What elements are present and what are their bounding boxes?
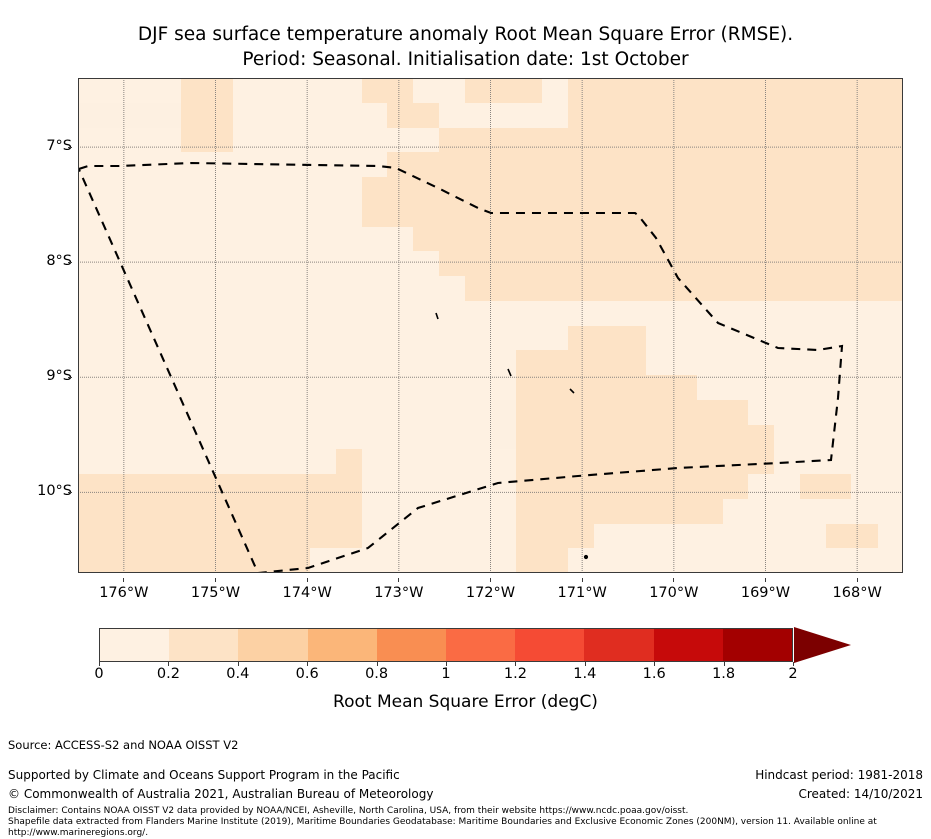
heatmap-cell [336, 449, 362, 549]
disclaimer-line-2: Shapefile data extracted from Flanders M… [8, 817, 923, 828]
colorbar[interactable] [99, 628, 793, 662]
heatmap-cell [362, 449, 517, 474]
longitude-tick-label: 174°W [262, 585, 352, 601]
heatmap-cell [697, 375, 903, 400]
colorbar-band [238, 629, 307, 661]
colorbar-tick-label: 0.2 [138, 666, 198, 682]
longitude-tick-mark [673, 578, 674, 582]
heatmap-cell [78, 128, 182, 153]
longitude-tick-mark [215, 578, 216, 582]
heatmap-cell [362, 524, 517, 549]
heatmap-cell [516, 350, 646, 375]
heatmap-cell [516, 425, 774, 450]
longitude-tick-mark [307, 578, 308, 582]
colorbar-band [377, 629, 446, 661]
longitude-tick-label: 170°W [629, 585, 719, 601]
heatmap-cell [465, 227, 903, 252]
heatmap-cell [78, 78, 182, 103]
footer-copyright: © Commonwealth of Australia 2021, Austra… [8, 785, 433, 804]
latitude-tick-label: 8°S [10, 253, 72, 269]
heatmap-cell [78, 326, 903, 351]
heatmap-cell [362, 103, 388, 128]
heatmap-cell [851, 474, 903, 499]
heatmap-cell [516, 474, 749, 499]
heatmap-cell [774, 425, 903, 450]
longitude-tick-mark [123, 578, 124, 582]
heatmap-cell [723, 276, 903, 301]
title-line-1: DJF sea surface temperature anomaly Root… [0, 22, 931, 47]
latitude-tick-mark [68, 147, 72, 148]
colorbar-tick-label: 1.2 [485, 666, 545, 682]
footer-disclaimer: Disclaimer: Contains NOAA OISST V2 data … [8, 806, 923, 839]
heatmap-cell [362, 202, 903, 227]
colorbar-band [723, 629, 792, 661]
rmse-heatmap-cells [78, 78, 903, 573]
heatmap-cell [233, 78, 363, 103]
heatmap-cell [284, 548, 310, 573]
colorbar-band [446, 629, 515, 661]
heatmap-cell [78, 152, 388, 177]
colorbar-band [584, 629, 653, 661]
heatmap-cell [516, 499, 723, 524]
heatmap-cell [78, 548, 285, 573]
heatmap-cell [413, 152, 903, 177]
heatmap-cell [78, 375, 491, 450]
heatmap-cell [233, 128, 440, 153]
latitude-tick-label: 7°S [10, 138, 72, 154]
heatmap-cell [568, 326, 646, 351]
latitude-tick-label: 9°S [10, 368, 72, 384]
heatmap-cell [723, 499, 903, 524]
footer-support-block: Supported by Climate and Oceans Support … [8, 766, 433, 804]
longitude-tick-label: 175°W [171, 585, 261, 601]
colorbar-bands [99, 628, 793, 662]
heatmap-cell [826, 524, 878, 549]
heatmap-cell [465, 78, 543, 103]
heatmap-cell [233, 103, 363, 128]
heatmap-cell [568, 548, 903, 573]
heatmap-cell [413, 227, 465, 252]
colorbar-ticks: 00.20.40.60.811.21.41.61.82 [99, 662, 793, 688]
colorbar-tick-label: 1 [416, 666, 476, 682]
heatmap-cell [362, 499, 517, 524]
heatmap-cell [78, 251, 440, 276]
heatmap-cell [78, 449, 336, 474]
footer-supported-by: Supported by Climate and Oceans Support … [8, 766, 433, 785]
latitude-tick-label: 10°S [10, 483, 72, 499]
heatmap-cell [78, 350, 903, 375]
longitude-tick-label: 171°W [537, 585, 627, 601]
heatmap-cell [516, 449, 774, 474]
latitude-tick-mark [68, 262, 72, 263]
heatmap-cell [516, 400, 749, 425]
footer-meta-block: Hindcast period: 1981-2018 Created: 14/1… [755, 766, 923, 804]
colorbar-tick-label: 1.4 [555, 666, 615, 682]
heatmap-cell [491, 375, 517, 400]
longitude-tick-label: 176°W [79, 585, 169, 601]
longitude-tick-mark [765, 578, 766, 582]
heatmap-cell [568, 78, 903, 128]
colorbar-band [654, 629, 723, 661]
longitude-axis: 176°W175°W174°W173°W172°W171°W170°W169°W… [78, 578, 903, 602]
heatmap-cell [181, 78, 233, 128]
heatmap-cell [774, 449, 903, 474]
colorbar-tick-label: 1.6 [624, 666, 684, 682]
heatmap-cell [181, 128, 233, 153]
heatmap-cell [387, 103, 439, 128]
latitude-tick-mark [68, 492, 72, 493]
colorbar-tick-label: 0 [69, 666, 129, 682]
heatmap-cell [387, 177, 903, 202]
heatmap-cell [78, 276, 465, 301]
heatmap-cell [362, 474, 517, 499]
map-plot-area[interactable] [78, 78, 903, 573]
heatmap-cell [78, 227, 414, 252]
heatmap-cell [465, 276, 723, 301]
colorbar-title: Root Mean Square Error (degC) [0, 692, 931, 712]
heatmap-cell [800, 474, 852, 499]
longitude-tick-mark [490, 578, 491, 582]
colorbar-band [515, 629, 584, 661]
heatmap-cell [439, 251, 903, 276]
latitude-axis: 7°S8°S9°S10°S [8, 78, 72, 573]
heatmap-cell [542, 78, 568, 103]
heatmap-cell [748, 400, 903, 425]
colorbar-extend-arrow [794, 627, 851, 663]
heatmap-cell [491, 128, 904, 153]
footer-created-date: Created: 14/10/2021 [755, 785, 923, 804]
longitude-tick-mark [398, 578, 399, 582]
heatmap-cell [387, 152, 413, 177]
colorbar-tick-label: 2 [763, 666, 823, 682]
longitude-tick-label: 173°W [354, 585, 444, 601]
heatmap-cell [516, 548, 568, 573]
longitude-tick-label: 172°W [446, 585, 536, 601]
longitude-tick-label: 169°W [721, 585, 811, 601]
colorbar-tick-label: 0.4 [208, 666, 268, 682]
footer-hindcast-period: Hindcast period: 1981-2018 [755, 766, 923, 785]
colorbar-tick-label: 0.8 [347, 666, 407, 682]
colorbar-band [100, 629, 169, 661]
heatmap-cell [78, 177, 362, 227]
heatmap-cell [516, 375, 697, 400]
longitude-tick-mark [582, 578, 583, 582]
heatmap-cell [748, 474, 800, 499]
heatmap-cell [362, 177, 388, 202]
heatmap-cell [413, 78, 465, 103]
colorbar-tick-label: 0.6 [277, 666, 337, 682]
disclaimer-line-1: Disclaimer: Contains NOAA OISST V2 data … [8, 806, 923, 817]
latitude-tick-mark [68, 377, 72, 378]
longitude-tick-mark [857, 578, 858, 582]
heatmap-cell [362, 78, 414, 103]
heatmap-cell [310, 548, 517, 573]
heatmap-cell [78, 301, 903, 326]
page-title: DJF sea surface temperature anomaly Root… [0, 22, 931, 72]
heatmap-cell [439, 128, 491, 153]
colorbar-band [308, 629, 377, 661]
colorbar-band [169, 629, 238, 661]
heatmap-cell [439, 103, 569, 128]
longitude-tick-label: 168°W [812, 585, 902, 601]
disclaimer-line-3: http://www.marineregions.org/. [8, 828, 923, 839]
heatmap-cell [516, 524, 594, 549]
footer-source: Source: ACCESS-S2 and NOAA OISST V2 [8, 738, 238, 752]
colorbar-tick-label: 1.8 [694, 666, 754, 682]
title-line-2: Period: Seasonal. Initialisation date: 1… [0, 47, 931, 72]
